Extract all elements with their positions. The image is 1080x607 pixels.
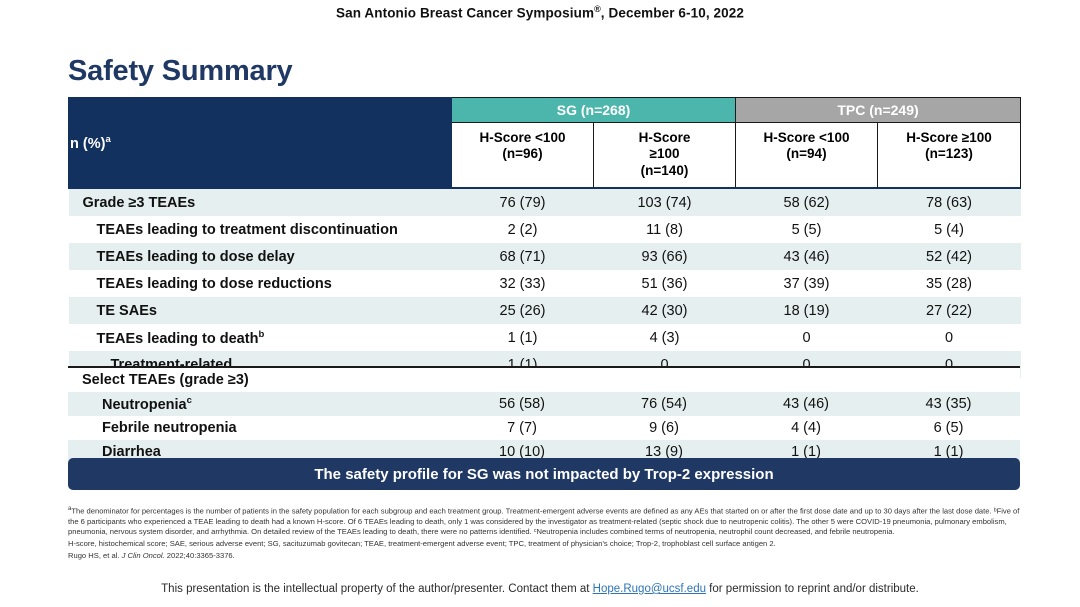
footnote-main-text: The denominator for percentages is the n…: [68, 507, 1019, 537]
row-label: TEAEs leading to dose delay: [69, 243, 452, 270]
row-value: 76 (54): [593, 392, 735, 416]
row-value: 93 (66): [594, 243, 736, 270]
section-header-spacer: [593, 368, 735, 392]
row-label-text: TEAEs leading to death: [97, 331, 259, 347]
row-value: 103 (74): [594, 188, 736, 216]
conference-header: San Antonio Breast Cancer Symposium®, De…: [0, 4, 1080, 21]
corner-label-footnote-marker: a: [105, 134, 110, 145]
corner-label: n (%): [70, 136, 105, 152]
table-corner-cell: n (%)a: [69, 98, 452, 189]
row-value: 27 (22): [878, 297, 1021, 324]
key-takeaway-banner: The safety profile for SG was not impact…: [68, 458, 1020, 490]
row-label: TEAEs leading to deathb: [69, 324, 452, 351]
table-group-header-row: n (%)a SG (n=268) TPC (n=249): [69, 98, 1021, 123]
row-value: 5 (5): [736, 216, 878, 243]
select-teaes-table-container: Select TEAEs (grade ≥3) Neutropeniac 56 …: [68, 366, 1020, 466]
row-value: 4 (4): [735, 416, 877, 440]
citation-authors: Rugo HS, et al.: [68, 551, 122, 560]
column-header-line2: (n=123): [882, 146, 1016, 162]
row-value: 76 (79): [452, 188, 594, 216]
safety-summary-table-container: n (%)a SG (n=268) TPC (n=249) H-Score <1…: [68, 97, 1020, 378]
row-label: Neutropeniac: [68, 392, 451, 416]
column-header-line1: H-Score ≥100: [882, 130, 1016, 146]
row-value: 43 (46): [736, 243, 878, 270]
row-value: 52 (42): [878, 243, 1021, 270]
citation-journal: J Clin Oncol.: [122, 551, 165, 560]
row-value: 9 (6): [593, 416, 735, 440]
column-header-line1: H-Score <100: [740, 130, 873, 146]
select-teaes-table: Select TEAEs (grade ≥3) Neutropeniac 56 …: [68, 368, 1020, 466]
row-value: 25 (26): [452, 297, 594, 324]
row-value: 78 (63): [878, 188, 1021, 216]
row-value: 11 (8): [594, 216, 736, 243]
row-value: 56 (58): [451, 392, 593, 416]
presenter-email-link[interactable]: Hope.Rugo@ucsf.edu: [593, 583, 706, 595]
row-value: 5 (4): [878, 216, 1021, 243]
row-value: 2 (2): [452, 216, 594, 243]
attribution-line: This presentation is the intellectual pr…: [0, 583, 1080, 595]
table-row: TEAEs leading to dose reductions 32 (33)…: [69, 270, 1021, 297]
row-label: TEAEs leading to dose reductions: [69, 270, 452, 297]
table-header: n (%)a SG (n=268) TPC (n=249) H-Score <1…: [69, 98, 1021, 189]
conference-dates: , December 6-10, 2022: [601, 6, 744, 21]
section-header-spacer: [451, 368, 593, 392]
column-header-line2: (n=96): [456, 146, 589, 162]
footnotes: aThe denominator for percentages is the …: [68, 505, 1024, 561]
row-value: 42 (30): [594, 297, 736, 324]
row-value: 0: [878, 324, 1021, 351]
group-header-tpc: TPC (n=249): [736, 98, 1021, 123]
row-label: Grade ≥3 TEAEs: [69, 188, 452, 216]
row-label: Febrile neutropenia: [68, 416, 451, 440]
row-value: 37 (39): [736, 270, 878, 297]
row-value: 18 (19): [736, 297, 878, 324]
citation-details: 2022;40:3365-3376.: [165, 551, 235, 560]
row-footnote-marker: c: [187, 395, 192, 406]
row-value: 4 (3): [594, 324, 736, 351]
registered-mark-icon: ®: [594, 4, 601, 14]
footnote-abbreviations: H-score, histochemical score; SAE, serio…: [68, 539, 1024, 549]
section-header-spacer: [735, 368, 877, 392]
row-value: 6 (5): [877, 416, 1020, 440]
banner-text: The safety profile for SG was not impact…: [314, 466, 773, 483]
section-header-spacer: [877, 368, 1020, 392]
column-header-sg-low: H-Score <100 (n=96): [452, 123, 594, 189]
select-teaes-section-header-row: Select TEAEs (grade ≥3): [68, 368, 1020, 392]
row-value: 1 (1): [452, 324, 594, 351]
section-header-label: Select TEAEs (grade ≥3): [68, 368, 451, 392]
row-value: 43 (35): [877, 392, 1020, 416]
column-header-tpc-low: H-Score <100 (n=94): [736, 123, 878, 189]
row-label-text: Neutropenia: [102, 397, 187, 413]
row-value: 51 (36): [594, 270, 736, 297]
column-header-line2: (n=94): [740, 146, 873, 162]
row-value: 68 (71): [452, 243, 594, 270]
table-row: Neutropeniac 56 (58) 76 (54) 43 (46) 43 …: [68, 392, 1020, 416]
table-row: TEAEs leading to treatment discontinuati…: [69, 216, 1021, 243]
row-value: 43 (46): [735, 392, 877, 416]
table-body: Grade ≥3 TEAEs 76 (79) 103 (74) 58 (62) …: [69, 188, 1021, 378]
attribution-text-after: for permission to reprint and/or distrib…: [706, 583, 919, 595]
safety-summary-table: n (%)a SG (n=268) TPC (n=249) H-Score <1…: [68, 97, 1021, 378]
footnote-citation: Rugo HS, et al. J Clin Oncol. 2022;40:33…: [68, 551, 1024, 561]
column-header-line3: (n=140): [598, 163, 731, 179]
row-footnote-marker: b: [258, 329, 264, 340]
row-value: 32 (33): [452, 270, 594, 297]
column-header-line1: H-Score <100: [456, 130, 589, 146]
row-value: 7 (7): [451, 416, 593, 440]
table-row: Febrile neutropenia 7 (7) 9 (6) 4 (4) 6 …: [68, 416, 1020, 440]
row-value: 35 (28): [878, 270, 1021, 297]
conference-name: San Antonio Breast Cancer Symposium: [336, 6, 594, 21]
column-header-line1: H-Score: [598, 130, 731, 146]
column-header-tpc-high: H-Score ≥100 (n=123): [878, 123, 1021, 189]
row-value: 58 (62): [736, 188, 878, 216]
footnote-main: aThe denominator for percentages is the …: [68, 505, 1024, 537]
column-header-line2: ≥100: [598, 146, 731, 162]
table-row: Grade ≥3 TEAEs 76 (79) 103 (74) 58 (62) …: [69, 188, 1021, 216]
table-row: TEAEs leading to deathb 1 (1) 4 (3) 0 0: [69, 324, 1021, 351]
row-label: TE SAEs: [69, 297, 452, 324]
attribution-text-before: This presentation is the intellectual pr…: [161, 583, 593, 595]
row-label: TEAEs leading to treatment discontinuati…: [69, 216, 452, 243]
group-header-sg: SG (n=268): [452, 98, 736, 123]
table-row: TE SAEs 25 (26) 42 (30) 18 (19) 27 (22): [69, 297, 1021, 324]
page-title: Safety Summary: [68, 55, 292, 88]
column-header-sg-high: H-Score ≥100 (n=140): [594, 123, 736, 189]
table-row: TEAEs leading to dose delay 68 (71) 93 (…: [69, 243, 1021, 270]
row-value: 0: [736, 324, 878, 351]
